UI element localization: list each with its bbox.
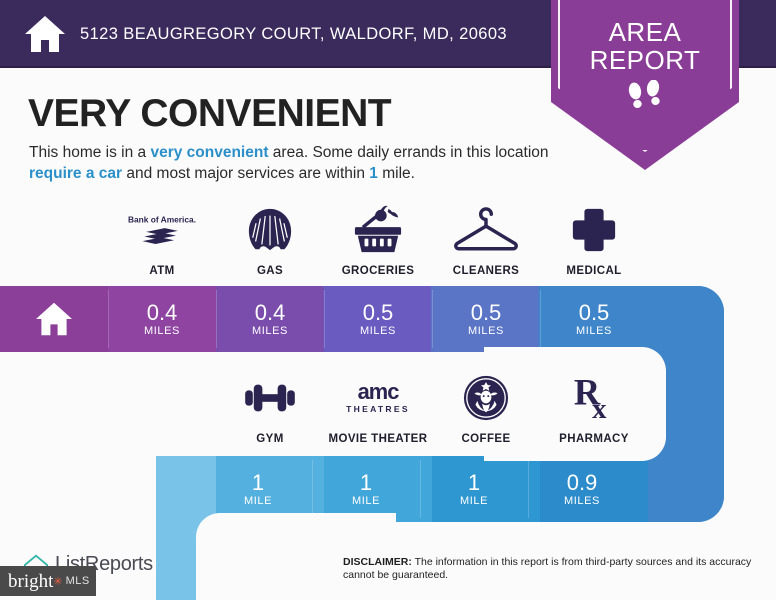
property-address: 5123 BEAUGREGORY COURT, WALDORF, MD, 206… <box>80 25 507 44</box>
amenity-icon-row-1: Bank of America. ATM <box>108 204 648 277</box>
distance-unit: MILES <box>564 494 600 508</box>
amenity-coffee: COFFEE <box>432 372 540 445</box>
desc-highlight-3: 1 <box>369 165 378 182</box>
shell-logo <box>245 204 295 256</box>
distance-unit: MILES <box>252 324 288 338</box>
amenity-label: PHARMACY <box>559 433 629 445</box>
starbucks-logo <box>462 372 510 424</box>
svg-text:x: x <box>592 393 607 422</box>
distance-segment-atm: 0.4 MILES <box>108 286 216 352</box>
amenity-gas: GAS <box>216 204 324 277</box>
amenity-label: MEDICAL <box>566 265 621 277</box>
amenity-gym: GYM <box>216 372 324 445</box>
amenity-groceries: GROCERIES <box>324 204 432 277</box>
amenity-pharmacy: R x PHARMACY <box>540 372 648 445</box>
distance-value: 0.9 <box>567 471 598 494</box>
dumbbell-icon <box>240 372 300 424</box>
area-report-badge: AREA REPORT <box>551 0 739 170</box>
desc-part-3: and most major services are within <box>122 165 369 182</box>
disclaimer: DISCLAIMER: The information in this repo… <box>343 556 763 582</box>
desc-part-4: mile. <box>378 165 415 182</box>
brightmls-watermark: bright✳ MLS <box>0 566 96 596</box>
amenity-label: GYM <box>256 433 283 445</box>
distance-unit: MILES <box>144 324 180 338</box>
amenity-cleaners: CLEANERS <box>432 204 540 277</box>
amc-theatres-logo: amc THEATRES <box>340 372 416 424</box>
distance-segment-movie-theater: 1 MILE <box>312 456 420 522</box>
home-marker-segment <box>0 286 108 352</box>
amenity-label: CLEANERS <box>453 265 519 277</box>
home-icon <box>34 301 74 337</box>
amenity-medical: MEDICAL <box>540 204 648 277</box>
medical-cross-icon <box>570 204 618 256</box>
distance-unit: MILE <box>460 494 488 508</box>
brightmls-mls-text: MLS <box>66 575 90 587</box>
distance-unit: MILES <box>468 324 504 338</box>
desc-highlight-2: require a car <box>29 165 122 182</box>
svg-text:amc: amc <box>358 379 400 404</box>
desc-part-2: area. Some daily errands in this locatio… <box>269 144 549 161</box>
distance-segment-cleaners: 0.5 MILES <box>432 286 540 352</box>
area-report-infographic: 5123 BEAUGREGORY COURT, WALDORF, MD, 206… <box>0 0 776 600</box>
amenity-label: COFFEE <box>461 433 510 445</box>
distance-value: 1 <box>360 471 372 494</box>
shopping-basket-icon <box>349 204 407 256</box>
rx-icon: R x <box>569 372 619 424</box>
distance-segment-groceries: 0.5 MILES <box>324 286 432 352</box>
footprints-icon <box>551 80 739 121</box>
disclaimer-label: DISCLAIMER: <box>343 556 412 568</box>
home-icon <box>23 14 67 54</box>
brightmls-bright-text: bright <box>8 572 53 591</box>
distance-unit: MILE <box>352 494 380 508</box>
bank-of-america-logo: Bank of America. <box>122 204 202 256</box>
amenity-icon-row-2: GYM amc THEATRES MOVIE THEATER <box>216 372 648 445</box>
badge-line-1: AREA <box>551 18 739 46</box>
distance-value: 0.4 <box>147 301 178 324</box>
distance-segment-gas: 0.4 MILES <box>216 286 324 352</box>
svg-text:THEATRES: THEATRES <box>346 404 410 414</box>
amenity-movie-theater: amc THEATRES MOVIE THEATER <box>324 372 432 445</box>
distance-segment-coffee: 1 MILE <box>420 456 528 522</box>
distance-segment-pharmacy: 0.9 MILES <box>528 456 636 522</box>
distance-unit: MILES <box>576 324 612 338</box>
distance-value: 0.5 <box>471 301 502 324</box>
badge-title: AREA REPORT <box>551 18 739 74</box>
badge-line-2: REPORT <box>551 46 739 74</box>
amenity-label: GAS <box>257 265 283 277</box>
distance-segment-gym: 1 MILE <box>204 456 312 522</box>
amenity-label: ATM <box>149 265 174 277</box>
distance-value: 1 <box>468 471 480 494</box>
description-text: This home is in a very convenient area. … <box>29 142 549 184</box>
svg-text:Bank of America.: Bank of America. <box>128 215 196 225</box>
desc-part-1: This home is in a <box>29 144 150 161</box>
brightmls-star-icon: ✳ <box>53 575 62 588</box>
distance-segment-medical: 0.5 MILES <box>540 286 648 352</box>
page-title: VERY CONVENIENT <box>28 92 391 136</box>
distance-value: 0.5 <box>579 301 610 324</box>
clothes-hanger-icon <box>451 204 521 256</box>
distance-value: 0.5 <box>363 301 394 324</box>
desc-highlight-1: very convenient <box>150 144 268 161</box>
amenity-atm: Bank of America. ATM <box>108 204 216 277</box>
distance-value: 1 <box>252 471 264 494</box>
distance-unit: MILE <box>244 494 272 508</box>
distance-bar-row-2: 1 MILE 1 MILE 1 MILE 0.9 MILES <box>204 456 636 522</box>
distance-bar-row-1: 0.4 MILES 0.4 MILES 0.5 MILES 0.5 MILES … <box>0 286 648 352</box>
amenity-label: MOVIE THEATER <box>329 433 428 445</box>
distance-unit: MILES <box>360 324 396 338</box>
distance-value: 0.4 <box>255 301 286 324</box>
amenity-label: GROCERIES <box>342 265 415 277</box>
